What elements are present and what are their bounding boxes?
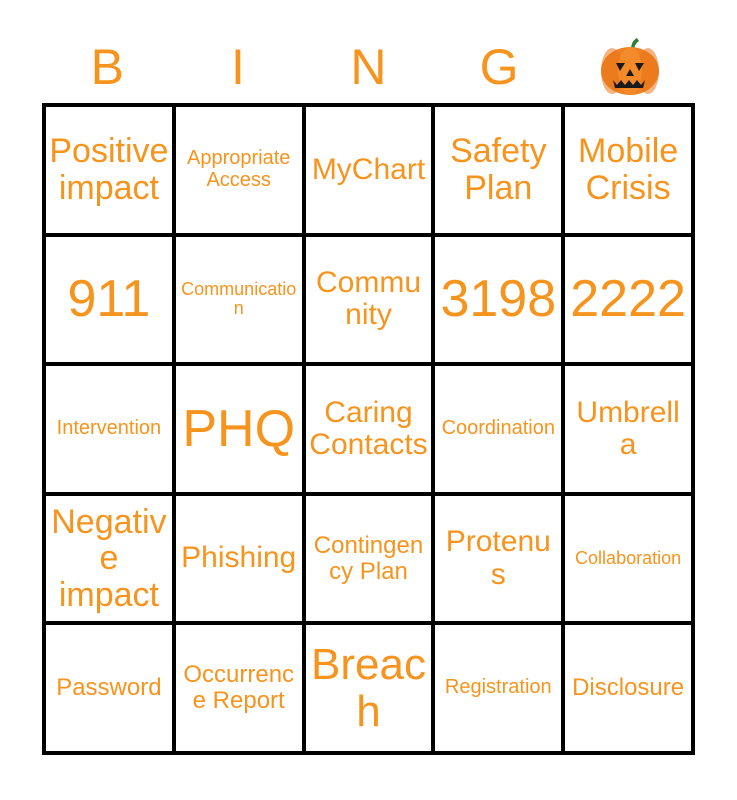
bingo-cell-label: 911 — [49, 271, 169, 327]
bingo-cell-label: Appropriate Access — [179, 148, 299, 191]
bingo-cell-label: Protenus — [438, 526, 558, 591]
bingo-cell-b1[interactable]: Positive impact — [46, 107, 172, 233]
bingo-cell-label: 2222 — [568, 271, 688, 327]
bingo-cell-i2[interactable]: Communication — [176, 237, 302, 363]
jack-o-lantern-icon — [564, 30, 695, 103]
bingo-cell-label: 3198 — [438, 271, 558, 327]
bingo-cell-g3[interactable]: Coordination — [435, 366, 561, 492]
bingo-cell-g2[interactable]: 3198 — [435, 237, 561, 363]
bingo-cell-o2[interactable]: 2222 — [565, 237, 691, 363]
bingo-grid: Positive impact Appropriate Access MyCha… — [42, 103, 695, 755]
bingo-cell-o4[interactable]: Collaboration — [565, 496, 691, 622]
bingo-cell-label: Communication — [179, 280, 299, 319]
bingo-cell-label: Caring Contacts — [309, 397, 429, 462]
bingo-cell-label: Breach — [309, 641, 429, 736]
bingo-cell-label: Umbrella — [568, 397, 688, 462]
bingo-cell-o1[interactable]: Mobile Crisis — [565, 107, 691, 233]
bingo-header: B I N G — [42, 30, 695, 103]
bingo-cell-n3[interactable]: Caring Contacts — [306, 366, 432, 492]
bingo-cell-label: Community — [309, 267, 429, 332]
bingo-cell-n5[interactable]: Breach — [306, 625, 432, 751]
bingo-cell-n4[interactable]: Contingency Plan — [306, 496, 432, 622]
bingo-cell-label: Occurrence Report — [179, 662, 299, 714]
bingo-cell-label: Phishing — [179, 542, 299, 574]
bingo-cell-b5[interactable]: Password — [46, 625, 172, 751]
bingo-cell-i4[interactable]: Phishing — [176, 496, 302, 622]
bingo-cell-g4[interactable]: Protenus — [435, 496, 561, 622]
bingo-cell-label: Password — [49, 675, 169, 701]
bingo-cell-i3[interactable]: PHQ — [176, 366, 302, 492]
bingo-cell-label: Coordination — [438, 418, 558, 440]
bingo-cell-n1[interactable]: MyChart — [306, 107, 432, 233]
bingo-cell-g5[interactable]: Registration — [435, 625, 561, 751]
bingo-cell-o5[interactable]: Disclosure — [565, 625, 691, 751]
bingo-cell-label: PHQ — [179, 401, 299, 457]
bingo-cell-label: Contingency Plan — [309, 533, 429, 585]
bingo-cell-g1[interactable]: Safety Plan — [435, 107, 561, 233]
bingo-cell-label: MyChart — [309, 154, 429, 186]
bingo-cell-b3[interactable]: Intervention — [46, 366, 172, 492]
bingo-cell-o3[interactable]: Umbrella — [565, 366, 691, 492]
bingo-cell-label: Safety Plan — [438, 133, 558, 206]
bingo-cell-label: Intervention — [49, 418, 169, 440]
bingo-cell-label: Positive impact — [49, 133, 169, 206]
bingo-cell-b4[interactable]: Negative impact — [46, 496, 172, 622]
bingo-cell-label: Disclosure — [568, 675, 688, 701]
header-letter-b: B — [42, 30, 173, 103]
bingo-cell-label: Mobile Crisis — [568, 133, 688, 206]
bingo-cell-i1[interactable]: Appropriate Access — [176, 107, 302, 233]
bingo-cell-b2[interactable]: 911 — [46, 237, 172, 363]
bingo-card: B I N G Positive impact Appropriate Acce… — [0, 0, 737, 800]
bingo-cell-n2[interactable]: Community — [306, 237, 432, 363]
header-letter-i: I — [173, 30, 304, 103]
bingo-cell-label: Registration — [438, 677, 558, 699]
bingo-cell-i5[interactable]: Occurrence Report — [176, 625, 302, 751]
header-letter-n: N — [303, 30, 434, 103]
bingo-cell-label: Collaboration — [568, 549, 688, 568]
header-letter-g: G — [434, 30, 565, 103]
bingo-cell-label: Negative impact — [49, 504, 169, 614]
